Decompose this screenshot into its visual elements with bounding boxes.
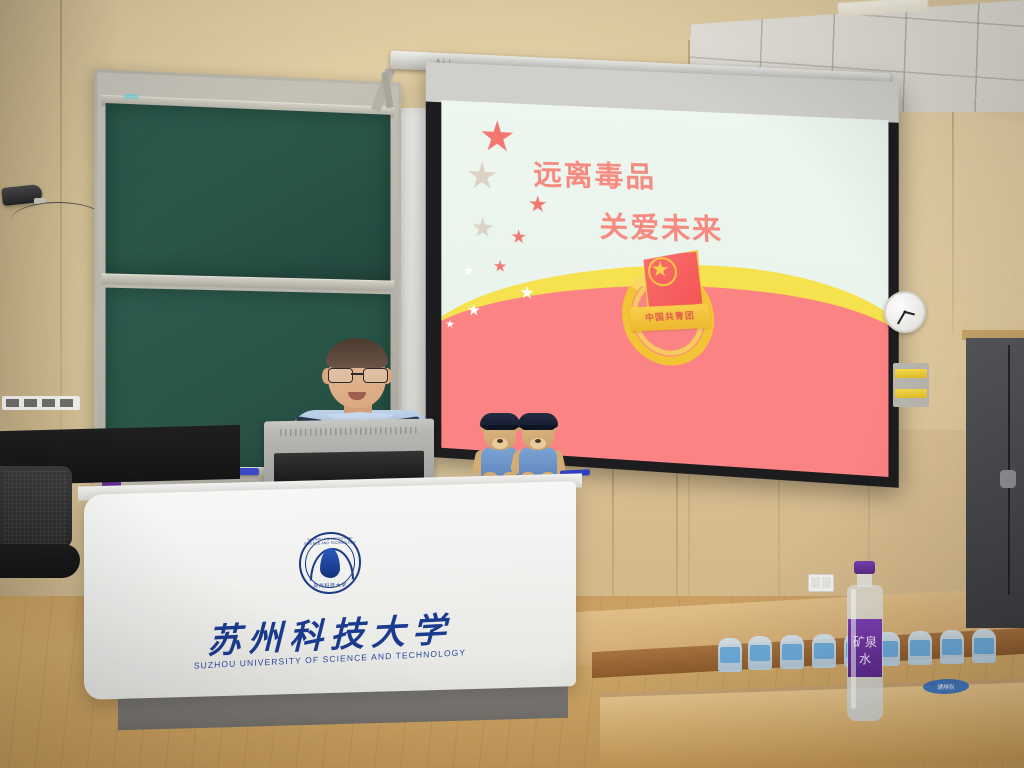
light-switch[interactable] [808,574,834,592]
communist-youth-league-emblem: 中国共青团 [622,249,728,373]
clock-center-pin [904,311,907,314]
suzhou-university-crest: SUZHOU UNIVERSITY OF SCIENCE AND TECHNOL… [299,531,361,595]
bottle-highlight [851,589,856,709]
chalk-stick [124,94,138,100]
chair-backrest [0,466,72,548]
teddy-bear-right [516,414,560,482]
slide-headline-line1: 远离毒品 [533,151,657,196]
slide-headline-line2: 关爱未来 [599,204,724,249]
clock-minute-hand [897,312,905,325]
chalkboard-panel-top [106,103,391,280]
crest-text-en: SUZHOU UNIVERSITY OF SCIENCE AND TECHNOL… [299,536,361,546]
classroom-photo-scene: A.L.I 远离毒品 关爱未来 中国共青团 [0,0,1024,768]
monitor-vent-slots [280,427,418,436]
wall-vent-grille [2,396,80,410]
bottle-cap [854,561,875,574]
yellow-notice-board [893,363,929,407]
wall-seam [952,74,954,334]
lectern-podium: SUZHOU UNIVERSITY OF SCIENCE AND TECHNOL… [78,480,582,730]
bottle-neck [857,573,872,587]
chair-seat [0,544,80,578]
wall-fixture [1000,470,1016,488]
floor-decal-text: 请排队 [922,682,970,691]
light-switch-toggle-right[interactable] [822,577,831,588]
emblem-banner: 中国共青团 [629,303,711,331]
purple-water-bottle: 矿泉水 [845,561,885,721]
emblem-banner-text: 中国共青团 [629,307,710,324]
officer-hair [326,338,388,368]
podium-front-panel: SUZHOU UNIVERSITY OF SCIENCE AND TECHNOL… [84,481,576,700]
crest-text-cn: 苏州科技大学 [299,581,361,590]
eyeglasses-icon [328,368,386,381]
front-desk [600,683,1024,768]
police-teddy-bear-mascots [478,404,564,482]
light-switch-toggle-left[interactable] [811,577,820,588]
wall-clock [884,291,926,333]
